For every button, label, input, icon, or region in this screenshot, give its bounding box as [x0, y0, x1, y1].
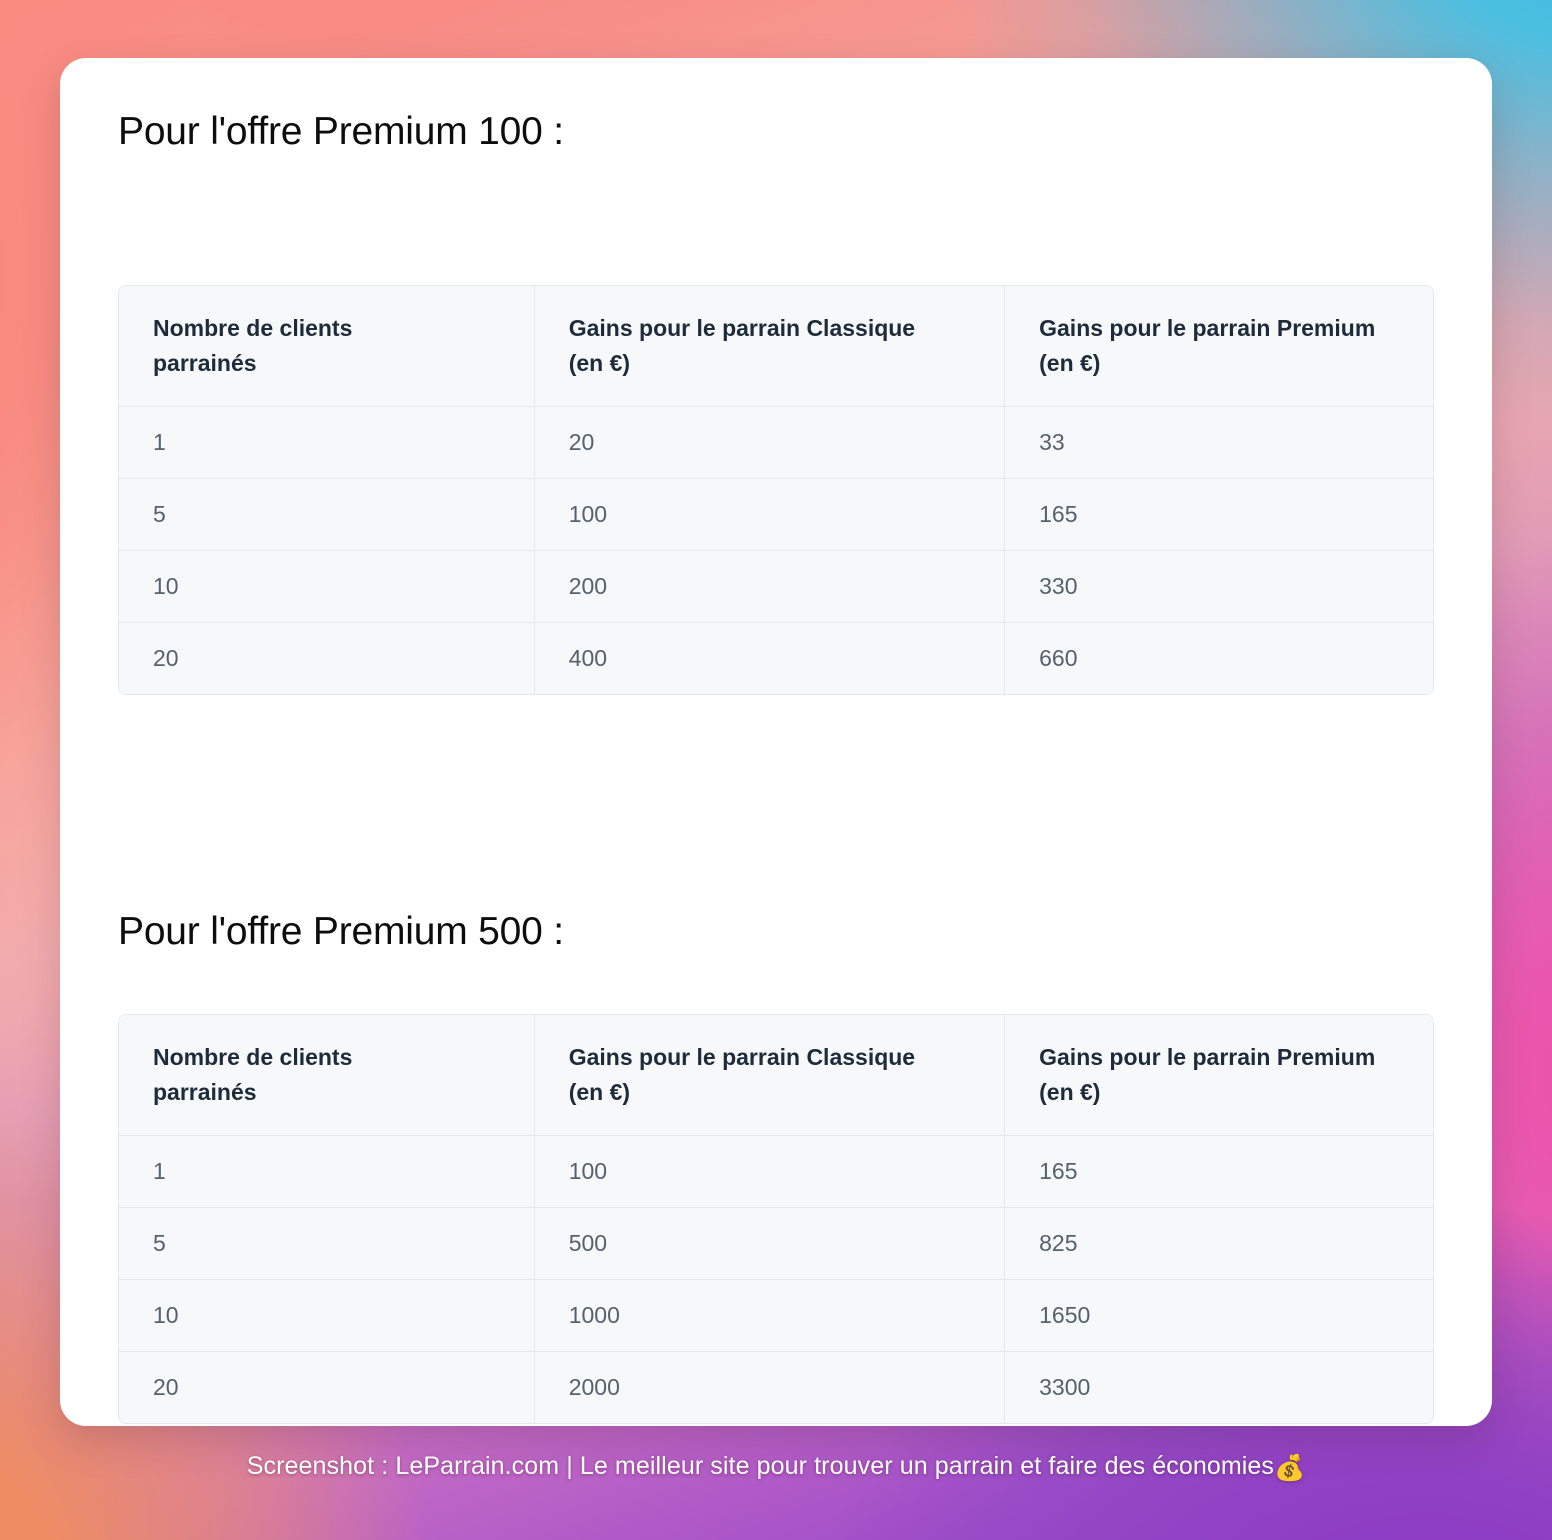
cell-clients: 5 [119, 1208, 534, 1280]
footer-caption: Screenshot : LeParrain.com | Le meilleur… [0, 1452, 1552, 1483]
cell-gains-classique: 200 [534, 550, 1004, 622]
column-header-gains-premium: Gains pour le parrain Premium (en €) [1005, 286, 1433, 406]
column-header-line: (en €) [569, 1079, 630, 1105]
content-card: Pour l'offre Premium 100 : Nombre de cli… [60, 58, 1492, 1426]
money-bag-icon: 💰 [1274, 1454, 1305, 1482]
cell-gains-premium: 660 [1005, 622, 1433, 694]
cell-clients: 5 [119, 478, 534, 550]
spacer-after-heading-1 [118, 157, 1434, 285]
cell-gains-classique: 500 [534, 1208, 1004, 1280]
gains-table-premium-100: Nombre de clients parrainés Gains pour l… [118, 285, 1434, 695]
cell-gains-premium: 330 [1005, 550, 1433, 622]
table-row: 5 500 825 [119, 1208, 1433, 1280]
cell-clients: 1 [119, 406, 534, 478]
spacer-between-sections [118, 695, 1434, 908]
table-row: 20 2000 3300 [119, 1352, 1433, 1424]
cell-clients: 10 [119, 550, 534, 622]
footer-caption-text: Screenshot : LeParrain.com | Le meilleur… [247, 1452, 1274, 1480]
column-header-line: Nombre de clients [153, 1044, 352, 1070]
column-header-line: (en €) [1039, 350, 1100, 376]
cell-gains-classique: 2000 [534, 1352, 1004, 1424]
column-header-line: Nombre de clients [153, 315, 352, 341]
table-row: 1 20 33 [119, 406, 1433, 478]
table-row: 1 100 165 [119, 1136, 1433, 1208]
cell-clients: 10 [119, 1280, 534, 1352]
table-row: 20 400 660 [119, 622, 1433, 694]
table-header-row: Nombre de clients parrainés Gains pour l… [119, 1015, 1433, 1135]
table-row: 5 100 165 [119, 478, 1433, 550]
cell-gains-premium: 165 [1005, 478, 1433, 550]
spacer-after-heading-2 [118, 956, 1434, 1014]
gains-table-premium-500: Nombre de clients parrainés Gains pour l… [118, 1014, 1434, 1424]
cell-clients: 1 [119, 1136, 534, 1208]
cell-clients: 20 [119, 622, 534, 694]
cell-gains-premium: 3300 [1005, 1352, 1433, 1424]
page-title-premium-500: Pour l'offre Premium 500 : [118, 908, 1434, 957]
card-inner: Pour l'offre Premium 100 : Nombre de cli… [60, 58, 1492, 1424]
column-header-gains-premium: Gains pour le parrain Premium (en €) [1005, 1015, 1433, 1135]
cell-gains-premium: 165 [1005, 1136, 1433, 1208]
cell-clients: 20 [119, 1352, 534, 1424]
column-header-line: Gains pour le parrain Premium [1039, 315, 1375, 341]
column-header-clients: Nombre de clients parrainés [119, 1015, 534, 1135]
cell-gains-classique: 100 [534, 478, 1004, 550]
column-header-line: Gains pour le parrain Classique [569, 1044, 915, 1070]
cell-gains-classique: 100 [534, 1136, 1004, 1208]
column-header-line: parrainés [153, 350, 257, 376]
cell-gains-premium: 1650 [1005, 1280, 1433, 1352]
cell-gains-classique: 400 [534, 622, 1004, 694]
cell-gains-classique: 1000 [534, 1280, 1004, 1352]
cell-gains-premium: 825 [1005, 1208, 1433, 1280]
column-header-gains-classique: Gains pour le parrain Classique (en €) [534, 1015, 1004, 1135]
table-row: 10 200 330 [119, 550, 1433, 622]
column-header-line: (en €) [569, 350, 630, 376]
column-header-line: (en €) [1039, 1079, 1100, 1105]
page-title-premium-100: Pour l'offre Premium 100 : [118, 108, 1434, 157]
table-row: 10 1000 1650 [119, 1280, 1433, 1352]
column-header-gains-classique: Gains pour le parrain Classique (en €) [534, 286, 1004, 406]
cell-gains-premium: 33 [1005, 406, 1433, 478]
column-header-clients: Nombre de clients parrainés [119, 286, 534, 406]
column-header-line: Gains pour le parrain Premium [1039, 1044, 1375, 1070]
column-header-line: parrainés [153, 1079, 257, 1105]
column-header-line: Gains pour le parrain Classique [569, 315, 915, 341]
table-header-row: Nombre de clients parrainés Gains pour l… [119, 286, 1433, 406]
cell-gains-classique: 20 [534, 406, 1004, 478]
